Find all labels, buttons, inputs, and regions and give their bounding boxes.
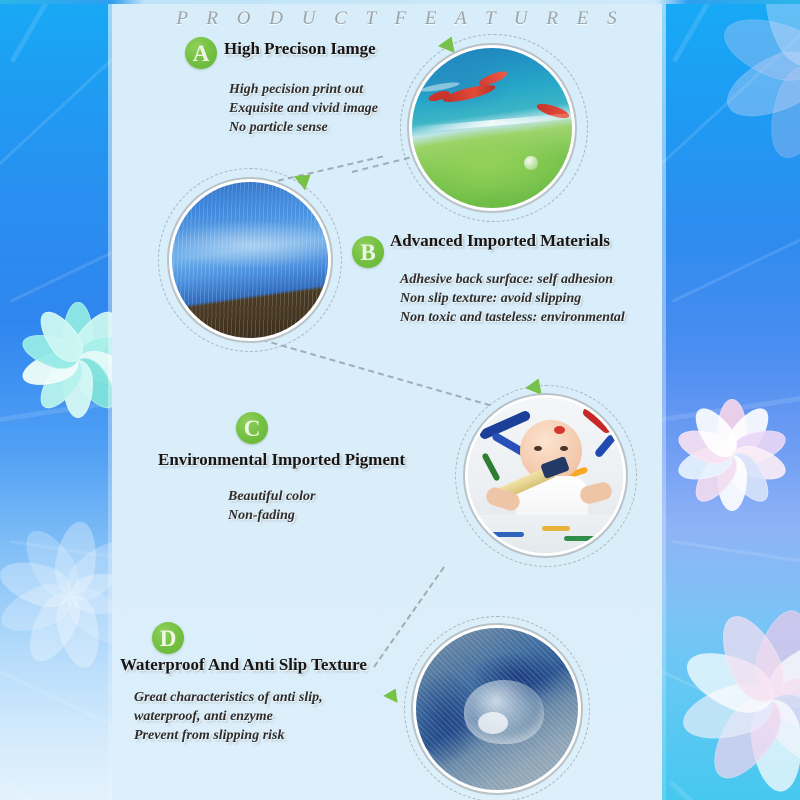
band-edge-highlight-right: [662, 0, 666, 800]
bullet-a-2: Exquisite and vivid image: [229, 99, 378, 118]
product-features-poster: P R O D U C T F E A T U R E S A High Pre…: [0, 0, 800, 800]
badge-c: C: [236, 412, 268, 444]
badge-d: D: [152, 622, 184, 654]
badge-a: A: [185, 37, 217, 69]
cyan-petal-flower: [18, 300, 112, 420]
heading-b: Advanced Imported Materials: [390, 231, 610, 251]
bullet-d-3: Prevent from slipping risk: [134, 726, 323, 745]
decor-ray: [7, 780, 112, 800]
bullet-d-2: waterproof, anti enzyme: [134, 707, 323, 726]
image-a-underwater-fish-mat: [412, 48, 572, 208]
bullet-b-3: Non toxic and tasteless: environmental: [400, 308, 625, 327]
pink-petal-flower: [672, 395, 792, 515]
heading-c: Environmental Imported Pigment: [158, 450, 405, 470]
bullets-a: High pecision print out Exquisite and vi…: [229, 80, 378, 137]
badge-b: B: [352, 236, 384, 268]
image-c-baby-painting: [468, 398, 623, 553]
bullets-d: Great characteristics of anti slip, wate…: [134, 688, 323, 745]
left-decoration-band: [0, 0, 112, 800]
heading-d: Waterproof And Anti Slip Texture: [120, 655, 367, 675]
image-d-water-droplet-texture: [416, 628, 578, 790]
bullets-b: Adhesive back surface: self adhesion Non…: [400, 270, 625, 327]
bullet-c-2: Non-fading: [228, 506, 316, 525]
decor-ray: [672, 540, 800, 580]
image-b-blue-fabric-roll: [172, 182, 328, 338]
pale-petal-fan-left: [0, 520, 112, 670]
bullets-c: Beautiful color Non-fading: [228, 487, 316, 525]
pink-petal-flower-large: [672, 600, 800, 800]
bullet-b-1: Adhesive back surface: self adhesion: [400, 270, 625, 289]
decor-ray: [672, 192, 800, 303]
heading-a: High Precison Iamge: [224, 39, 376, 59]
top-accent-line: [0, 0, 800, 4]
bullet-d-1: Great characteristics of anti slip,: [134, 688, 323, 707]
bullet-c-1: Beautiful color: [228, 487, 316, 506]
bullet-a-3: No particle sense: [229, 118, 378, 137]
right-decoration-band: [662, 0, 800, 800]
bullet-a-1: High pecision print out: [229, 80, 378, 99]
page-title: P R O D U C T F E A T U R E S: [0, 8, 800, 30]
decor-ray: [10, 200, 112, 302]
bullet-b-2: Non slip texture: avoid slipping: [400, 289, 625, 308]
decor-ray: [0, 660, 112, 762]
